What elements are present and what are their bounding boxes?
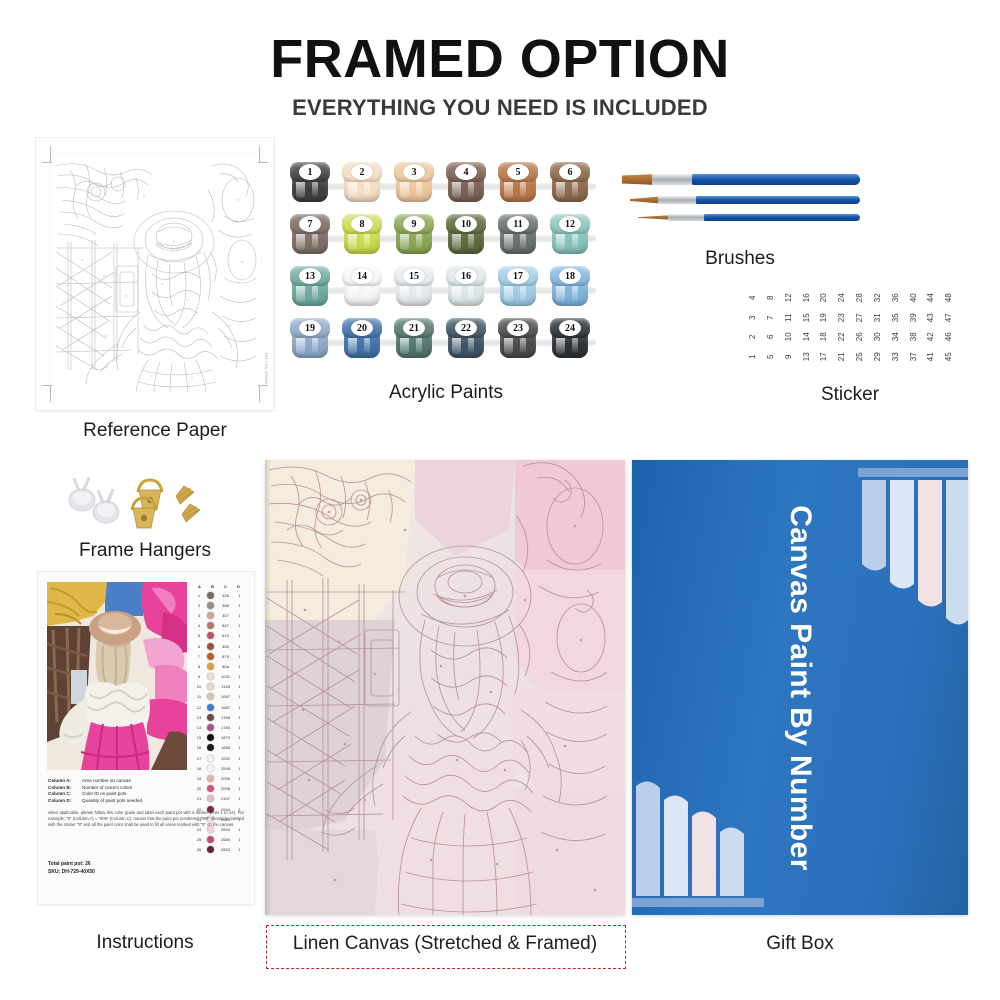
brush-handle	[692, 174, 860, 185]
canvas-frame-edge	[265, 460, 271, 915]
linen-canvas-item	[265, 460, 625, 915]
stripe-fan-top	[858, 468, 968, 625]
column-label: Column B:	[48, 785, 82, 792]
pot-number: 1	[299, 164, 321, 180]
legend-area-number: 16	[193, 745, 205, 750]
legend-color-swatch	[205, 663, 216, 670]
legend-color-swatch	[205, 765, 216, 772]
paint-pot-12: 12	[550, 214, 590, 256]
paint-pot-16: 16	[446, 266, 486, 308]
legend-area-number: 25	[193, 837, 205, 842]
crop-mark	[259, 146, 260, 162]
sticker-number: 27	[850, 308, 870, 326]
legend-row: 78791	[193, 651, 245, 661]
legend-quantity: 1	[235, 623, 244, 628]
pot-gloss	[416, 233, 422, 249]
instruction-column-def: Column A:Area number on canvas	[48, 778, 198, 785]
legend-header-d: D	[232, 584, 245, 589]
pot-gloss	[520, 285, 526, 301]
sticker-number: 36	[886, 289, 906, 307]
brush-tip	[622, 174, 656, 185]
paint-pot-15: 15	[394, 266, 434, 308]
sticker-number: 4	[743, 289, 763, 307]
pot-gloss	[416, 285, 422, 301]
sticker-number: 19	[814, 308, 834, 326]
legend-row: 2121971	[193, 794, 245, 804]
legend-row: 1920961	[193, 773, 245, 783]
pot-number: 12	[559, 216, 581, 232]
brush-ferrule	[658, 196, 698, 204]
stripe-fan-bottom	[632, 781, 764, 907]
legend-quantity: 1	[235, 776, 244, 781]
sticker-number: 28	[850, 289, 870, 307]
round-brush	[630, 196, 860, 204]
legend-color-swatch	[205, 683, 216, 690]
brushes-caption: Brushes	[620, 248, 860, 270]
frame-hangers-caption: Frame Hangers	[30, 540, 260, 562]
legend-quantity: 1	[235, 725, 244, 730]
instruction-column-def: Column D:Quantity of paint pots needed	[48, 798, 198, 805]
instructions-column-defs: Column A:Area number on canvasColumn B:N…	[48, 778, 198, 804]
pot-number: 17	[507, 268, 529, 284]
pot-gloss	[468, 285, 474, 301]
legend-color-id: 2098	[216, 786, 235, 791]
sticker-number: 8	[761, 289, 781, 307]
pot-number: 2	[351, 164, 373, 180]
legend-color-id: 1148	[216, 684, 235, 689]
paint-pot-8: 8	[342, 214, 382, 256]
acrylic-paints-caption: Acrylic Paints	[290, 382, 602, 404]
legend-header-b: B	[206, 584, 219, 589]
legend-header-a: A	[193, 584, 206, 589]
total-paint-pot: Total paint pot: 26	[48, 860, 95, 868]
legend-color-id: 407	[216, 613, 235, 618]
legend-row: 1216871	[193, 702, 245, 712]
sticker-number: 42	[921, 328, 941, 346]
legend-color-swatch	[205, 724, 216, 731]
instructions-preview-image	[47, 582, 187, 770]
sticker-number: 21	[832, 347, 852, 365]
column-label: Column D:	[48, 798, 82, 805]
pot-number: 18	[559, 268, 581, 284]
brushes-item	[622, 168, 860, 238]
d-ring-hanger-icon	[138, 480, 162, 510]
pot-gloss	[312, 337, 318, 353]
paint-pot-22: 22	[446, 318, 486, 360]
sticker-number: 12	[779, 289, 799, 307]
pot-gloss	[520, 181, 526, 197]
linen-canvas-caption: Linen Canvas (Stretched & Framed)	[266, 933, 624, 955]
legend-color-swatch	[205, 602, 216, 609]
sticker-number: 11	[779, 308, 799, 326]
legend-color-swatch	[205, 755, 216, 762]
legend-area-number: 4	[193, 623, 205, 628]
sticker-caption: Sticker	[740, 384, 960, 406]
legend-color-swatch	[205, 612, 216, 619]
pot-gloss	[364, 337, 370, 353]
pot-number: 14	[351, 268, 373, 284]
legend-area-number: 1	[193, 593, 205, 598]
legend-area-number: 9	[193, 674, 205, 679]
sticker-number-grid: 4812162024283236404448371115192327313539…	[744, 288, 958, 366]
brush-handle	[704, 214, 860, 221]
legend-color-swatch	[205, 795, 216, 802]
legend-color-id: 615	[216, 633, 235, 638]
legend-color-swatch	[205, 673, 216, 680]
pot-gloss	[364, 233, 370, 249]
legend-row: 2526801	[193, 835, 245, 845]
legend-quantity: 1	[235, 654, 244, 659]
legend-row: 1317661	[193, 712, 245, 722]
pot-gloss	[364, 285, 370, 301]
legend-quantity: 1	[235, 837, 244, 842]
legend-quantity: 1	[235, 633, 244, 638]
legend-color-id: 2096	[216, 776, 235, 781]
legend-color-id: 488	[216, 603, 235, 608]
legend-row: 56151	[193, 631, 245, 641]
pot-number: 5	[507, 164, 529, 180]
instruction-column-def: Column C:Color ID on paint pots	[48, 791, 198, 798]
legend-color-swatch	[205, 785, 216, 792]
paint-pot-1: 1	[290, 162, 330, 204]
paint-pot-19: 19	[290, 318, 330, 360]
acrylic-paints-item: 123456789101112131415161718192021222324	[290, 160, 602, 365]
legend-quantity: 1	[235, 684, 244, 689]
paint-pot-3: 3	[394, 162, 434, 204]
legend-row: 24881	[193, 600, 245, 610]
legend-color-swatch	[205, 846, 216, 853]
pot-number: 9	[403, 216, 425, 232]
wall-anchor-icon	[69, 477, 95, 511]
pot-number: 10	[455, 216, 477, 232]
column-text: Color ID on paint pots	[82, 791, 126, 798]
pot-number: 20	[351, 320, 373, 336]
legend-color-swatch	[205, 734, 216, 741]
sticker-number: 6	[761, 328, 781, 346]
legend-color-id: 847	[216, 623, 235, 628]
sticker-number: 41	[921, 347, 941, 365]
sticker-number: 33	[886, 347, 906, 365]
sticker-number: 23	[832, 308, 852, 326]
paint-pot-11: 11	[498, 214, 538, 256]
instructions-caption: Instructions	[20, 932, 270, 954]
legend-quantity: 1	[235, 674, 244, 679]
legend-quantity: 1	[235, 766, 244, 771]
sticker-number: 17	[814, 347, 834, 365]
crop-mark	[259, 386, 260, 402]
brush-handle	[696, 196, 860, 204]
legend-color-id: 426	[216, 593, 235, 598]
column-text: Quantity of paint pots needed	[82, 798, 142, 805]
pot-gloss	[312, 181, 318, 197]
column-text: Number of correct colors	[82, 785, 132, 792]
legend-color-swatch	[205, 836, 216, 843]
pot-gloss	[468, 181, 474, 197]
legend-area-number: 14	[193, 725, 205, 730]
sticker-number: 24	[832, 289, 852, 307]
pot-gloss	[572, 337, 578, 353]
sticker-number: 43	[921, 308, 941, 326]
legend-row: 1110671	[193, 692, 245, 702]
pot-number: 15	[403, 268, 425, 284]
pot-number: 3	[403, 164, 425, 180]
legend-area-number: 26	[193, 847, 205, 852]
legend-color-swatch	[205, 775, 216, 782]
paint-pot-2: 2	[342, 162, 382, 204]
paint-pot-4: 4	[446, 162, 486, 204]
paint-pot-18: 18	[550, 266, 590, 308]
sticker-number: 34	[886, 328, 906, 346]
sticker-number: 20	[814, 289, 834, 307]
paint-pot-6: 6	[550, 162, 590, 204]
canvas-artwork	[265, 460, 625, 915]
legend-quantity: 1	[235, 745, 244, 750]
legend-color-id: 80a	[216, 664, 235, 669]
pot-gloss	[520, 337, 526, 353]
legend-color-id: 1031	[216, 674, 235, 679]
page-title: FRAMED OPTION	[0, 32, 1000, 86]
legend-quantity: 1	[235, 694, 244, 699]
legend-quantity: 1	[235, 715, 244, 720]
sticker-number: 26	[850, 328, 870, 346]
legend-color-id: 485	[216, 644, 235, 649]
gift-box-title: Canvas Paint By Number	[783, 505, 817, 871]
pot-gloss	[416, 181, 422, 197]
crop-mark	[50, 146, 51, 162]
legend-quantity: 1	[235, 847, 244, 852]
legend-quantity: 1	[235, 796, 244, 801]
crop-mark	[50, 386, 51, 402]
sticker-number: 31	[868, 308, 888, 326]
legend-quantity: 1	[235, 735, 244, 740]
sticker-number: 46	[939, 328, 959, 346]
reference-paper-lineart	[52, 156, 258, 392]
legend-quantity: 1	[235, 613, 244, 618]
legend-color-id: 1687	[216, 705, 235, 710]
pot-gloss	[572, 233, 578, 249]
pot-number: 13	[299, 268, 321, 284]
legend-color-id: 1932	[216, 756, 235, 761]
reference-paper-sidecode: DH-729-40X50	[264, 353, 269, 384]
paint-pot-10: 10	[446, 214, 486, 256]
legend-row: 880a1	[193, 661, 245, 671]
legend-header-c: C	[219, 584, 232, 589]
liner-brush	[638, 214, 860, 221]
legend-color-swatch	[205, 693, 216, 700]
screw-icon	[182, 504, 200, 522]
legend-quantity: 1	[235, 593, 244, 598]
sticker-number: 47	[939, 308, 959, 326]
sticker-number: 30	[868, 328, 888, 346]
sticker-number: 9	[779, 347, 799, 365]
legend-row: 1518701	[193, 733, 245, 743]
legend-color-id: 2197	[216, 796, 235, 801]
sticker-number: 10	[779, 328, 799, 346]
gift-box-caption: Gift Box	[632, 933, 968, 955]
legend-row: 910311	[193, 672, 245, 682]
pot-number: 7	[299, 216, 321, 232]
legend-row: 2020981	[193, 784, 245, 794]
sticker-number: 35	[886, 308, 906, 326]
legend-row: 1825481	[193, 763, 245, 773]
legend-row: 1618681	[193, 743, 245, 753]
legend-color-swatch	[205, 622, 216, 629]
sticker-number: 29	[868, 347, 888, 365]
legend-color-id: 1868	[216, 745, 235, 750]
pot-gloss	[468, 337, 474, 353]
pot-gloss	[364, 181, 370, 197]
paint-pot-23: 23	[498, 318, 538, 360]
paint-pot-13: 13	[290, 266, 330, 308]
paint-pot-17: 17	[498, 266, 538, 308]
paint-pot-7: 7	[290, 214, 330, 256]
pot-number: 23	[507, 320, 529, 336]
legend-area-number: 2	[193, 603, 205, 608]
instructions-sheet: A B C D 14261248813407148471561516485178…	[38, 572, 254, 904]
legend-quantity: 1	[235, 664, 244, 669]
legend-row: 34071	[193, 610, 245, 620]
pot-number: 8	[351, 216, 373, 232]
sticker-number: 22	[832, 328, 852, 346]
legend-area-number: 18	[193, 766, 205, 771]
legend-color-swatch	[205, 653, 216, 660]
paint-pot-20: 20	[342, 318, 382, 360]
brush-tip	[638, 214, 672, 221]
paint-pot-24: 24	[550, 318, 590, 360]
legend-area-number: 12	[193, 705, 205, 710]
sticker-number: 18	[814, 328, 834, 346]
pot-gloss	[520, 233, 526, 249]
flat-brush	[622, 174, 860, 185]
legend-area-number: 7	[193, 654, 205, 659]
pot-number: 19	[299, 320, 321, 336]
legend-row: 48471	[193, 621, 245, 631]
legend-quantity: 1	[235, 756, 244, 761]
legend-color-swatch	[205, 632, 216, 639]
sticker-number: 32	[868, 289, 888, 307]
pot-number: 11	[507, 216, 529, 232]
sticker-number: 7	[761, 308, 781, 326]
pot-number: 22	[455, 320, 477, 336]
legend-area-number: 8	[193, 664, 205, 669]
pot-number: 6	[559, 164, 581, 180]
instructions-note: when applicable, please follow this colo…	[48, 810, 244, 829]
legend-color-id: 1766	[216, 715, 235, 720]
pot-gloss	[312, 285, 318, 301]
legend-color-swatch	[205, 643, 216, 650]
legend-color-swatch	[205, 704, 216, 711]
pot-gloss	[468, 233, 474, 249]
reference-paper-sheet: DH-729-40X50	[36, 138, 274, 410]
paint-pot-5: 5	[498, 162, 538, 204]
sticker-number: 1	[743, 347, 763, 365]
legend-row: 2626531	[193, 845, 245, 855]
legend-area-number: 17	[193, 756, 205, 761]
legend-row: 1719321	[193, 753, 245, 763]
pot-number: 16	[455, 268, 477, 284]
legend-area-number: 11	[193, 694, 205, 699]
column-label: Column A:	[48, 778, 82, 785]
legend-row: 1011481	[193, 682, 245, 692]
paint-pot-14: 14	[342, 266, 382, 308]
column-text: Area number on canvas	[82, 778, 131, 785]
legend-color-id: 1784	[216, 725, 235, 730]
column-label: Column C:	[48, 791, 82, 798]
sticker-number: 44	[921, 289, 941, 307]
legend-area-number: 3	[193, 613, 205, 618]
sticker-number: 2	[743, 328, 763, 346]
legend-color-swatch	[205, 592, 216, 599]
legend-row: 1417841	[193, 722, 245, 732]
legend-area-number: 6	[193, 644, 205, 649]
sticker-number: 5	[761, 347, 781, 365]
pot-number: 21	[403, 320, 425, 336]
legend-area-number: 13	[193, 715, 205, 720]
sku-text: SKU: DH-729-40X50	[48, 868, 95, 876]
legend-quantity: 1	[235, 786, 244, 791]
instruction-column-def: Column B:Number of correct colors	[48, 785, 198, 792]
paint-pot-21: 21	[394, 318, 434, 360]
instructions-totals: Total paint pot: 26 SKU: DH-729-40X50	[48, 860, 95, 876]
brush-ferrule	[668, 214, 706, 221]
sticker-number: 25	[850, 347, 870, 365]
legend-color-id: 879	[216, 654, 235, 659]
sticker-number: 3	[743, 308, 763, 326]
legend-area-number: 10	[193, 684, 205, 689]
legend-row: 14261	[193, 590, 245, 600]
sticker-sheet: 4812162024283236404448371115192327313539…	[744, 288, 958, 366]
legend-color-id: 2653	[216, 847, 235, 852]
legend-header-row: A B C D	[193, 582, 245, 590]
sticker-number: 48	[939, 289, 959, 307]
legend-color-swatch	[205, 744, 216, 751]
pot-number: 4	[455, 164, 477, 180]
infographic-root: FRAMED OPTION EVERYTHING YOU NEED IS INC…	[0, 0, 1000, 1000]
wall-anchor-icon	[93, 489, 119, 523]
legend-quantity: 1	[235, 705, 244, 710]
legend-area-number: 15	[193, 735, 205, 740]
pot-number: 24	[559, 320, 581, 336]
brush-ferrule	[652, 174, 694, 185]
legend-row: 64851	[193, 641, 245, 651]
legend-color-id: 1870	[216, 735, 235, 740]
legend-color-id: 2680	[216, 837, 235, 842]
legend-color-id: 1067	[216, 694, 235, 699]
legend-area-number: 5	[193, 633, 205, 638]
gift-box-item: Canvas Paint By Number	[632, 460, 968, 915]
legend-quantity: 1	[235, 603, 244, 608]
pot-gloss	[572, 181, 578, 197]
pot-gloss	[312, 233, 318, 249]
page-subtitle: EVERYTHING YOU NEED IS INCLUDED	[0, 95, 1000, 121]
paint-pot-9: 9	[394, 214, 434, 256]
sticker-number: 45	[939, 347, 959, 365]
frame-hangers-item	[60, 470, 230, 532]
reference-paper-item: DH-729-40X50	[36, 138, 274, 410]
legend-color-swatch	[205, 714, 216, 721]
legend-quantity: 1	[235, 644, 244, 649]
pot-gloss	[572, 285, 578, 301]
pot-gloss	[416, 337, 422, 353]
reference-paper-caption: Reference Paper	[30, 420, 280, 442]
legend-color-id: 2548	[216, 766, 235, 771]
screw-icon	[176, 486, 194, 504]
